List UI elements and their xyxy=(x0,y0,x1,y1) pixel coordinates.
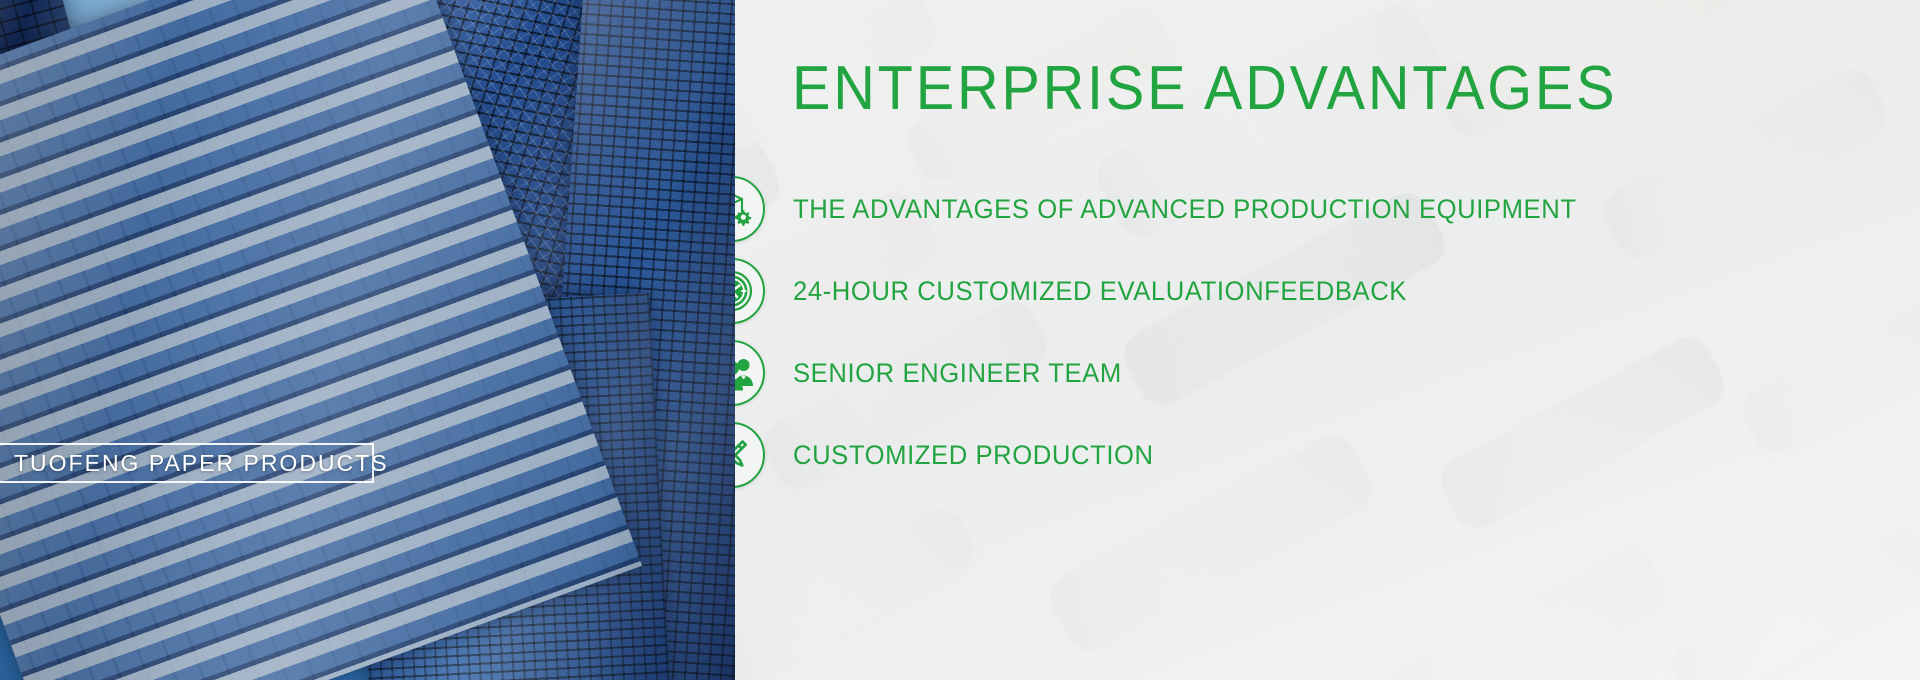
team-people-icon xyxy=(735,340,765,406)
list-item[interactable]: 24-HOUR CUSTOMIZED EVALUATIONFEEDBACK xyxy=(735,250,1920,332)
list-item-label: SENIOR ENGINEER TEAM xyxy=(793,358,1122,389)
pencil-ruler-icon xyxy=(735,422,765,488)
photo-vignette xyxy=(0,0,735,680)
company-name: TUOFENG PAPER PRODUCTS xyxy=(14,450,389,477)
advantages-list: THE ADVANTAGES OF ADVANCED PRODUCTION EQ… xyxy=(735,168,1920,496)
content-panel: ENTERPRISE ADVANTAGES xyxy=(735,0,1920,680)
clock-icon xyxy=(735,258,765,324)
list-item[interactable]: THE ADVANTAGES OF ADVANCED PRODUCTION EQ… xyxy=(735,168,1920,250)
page-title: ENTERPRISE ADVANTAGES xyxy=(792,58,1617,120)
list-item[interactable]: SENIOR ENGINEER TEAM xyxy=(735,332,1920,414)
list-item[interactable]: CUSTOMIZED PRODUCTION xyxy=(735,414,1920,496)
company-logo-box: TUOFENG PAPER PRODUCTS xyxy=(0,443,374,483)
building-photo-panel: TUOFENG PAPER PRODUCTS xyxy=(0,0,735,680)
enterprise-advantages-banner: TUOFENG PAPER PRODUCTS E xyxy=(0,0,1920,680)
list-item-label: CUSTOMIZED PRODUCTION xyxy=(793,440,1154,471)
box-gear-icon xyxy=(735,176,765,242)
list-item-label: THE ADVANTAGES OF ADVANCED PRODUCTION EQ… xyxy=(793,194,1577,225)
list-item-label: 24-HOUR CUSTOMIZED EVALUATIONFEEDBACK xyxy=(793,276,1407,307)
